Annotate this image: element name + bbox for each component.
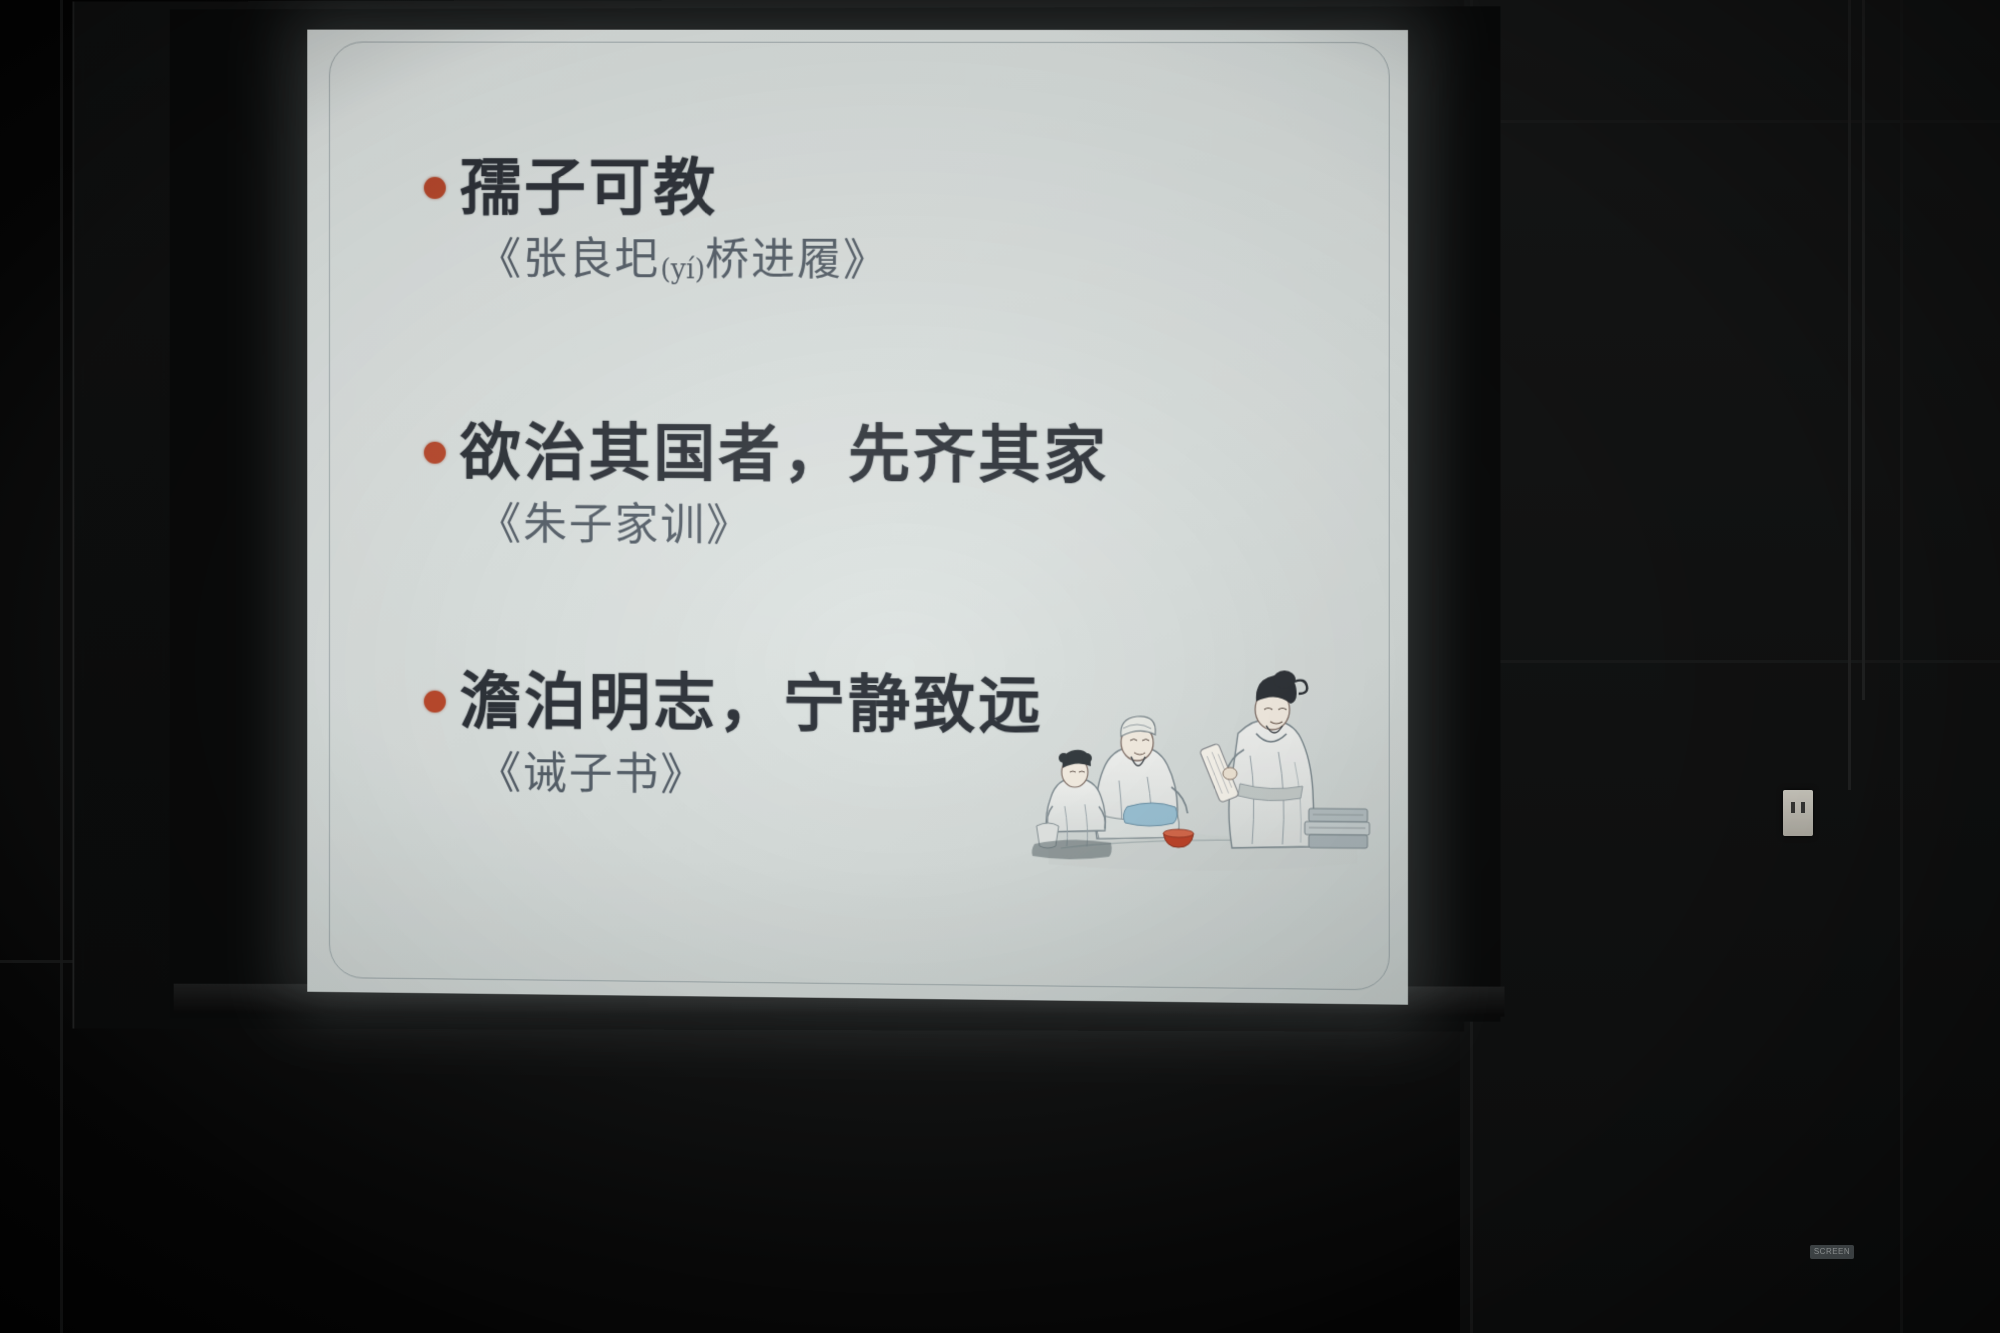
wall-seam-horizontal-2 [1460, 660, 2000, 663]
bullet-row-1: 孺子可教 [307, 155, 1408, 223]
bullet-source-pinyin-1: (yí) [660, 254, 705, 285]
projected-slide[interactable]: 孺子可教 《张良圯(yí)桥进履》 欲治其国者，先齐其家 《朱子家训》 [307, 30, 1408, 1005]
cable-2 [1862, 0, 1865, 700]
wall-seam-vertical-3 [60, 0, 63, 1333]
bullet-source-suffix-1: 桥进履》 [705, 235, 889, 287]
bullet-block-2: 欲治其国者，先齐其家 《朱子家训》 [307, 419, 1408, 555]
wall-outlet-icon [1783, 790, 1813, 836]
bullet-block-1: 孺子可教 《张良圯(yí)桥进履》 [307, 155, 1408, 287]
room-background: 孺子可教 《张良圯(yí)桥进履》 欲治其国者，先齐其家 《朱子家训》 [0, 0, 2000, 1333]
screen-label-plate: SCREEN [1810, 1245, 1854, 1259]
bullet-dot-icon-3 [424, 690, 446, 712]
bullet-source-1: 《张良圯(yí)桥进履》 [477, 236, 1408, 287]
bullet-dot-icon-2 [424, 441, 446, 463]
wall-seam-horizontal-1 [1460, 120, 2000, 123]
wall-panel-right [1460, 0, 2000, 1333]
cable-1 [1848, 0, 1851, 790]
bullet-main-text-3: 澹泊明志，宁静致远 [460, 669, 1044, 739]
bullet-source-prefix-2: 《朱子家训》 [477, 499, 752, 552]
outlet-slot-left [1791, 802, 1795, 813]
bullet-source-prefix-3: 《诫子书》 [477, 748, 706, 801]
outlet-slot-right [1801, 802, 1805, 813]
bullet-dot-icon-1 [424, 176, 446, 198]
bullet-main-text-1: 孺子可教 [460, 155, 719, 220]
wall-seam-vertical-2 [1900, 0, 1903, 1333]
slide-content: 孺子可教 《张良圯(yí)桥进履》 欲治其国者，先齐其家 《朱子家训》 [307, 30, 1408, 1005]
classical-painting-illustration [1031, 629, 1376, 881]
bullet-source-2: 《朱子家训》 [477, 501, 1408, 555]
bullet-row-2: 欲治其国者，先齐其家 [307, 419, 1408, 490]
bullet-main-text-2: 欲治其国者，先齐其家 [460, 420, 1109, 489]
bullet-source-prefix-1: 《张良圯 [477, 234, 660, 285]
projection-screen-frame: 孺子可教 《张良圯(yí)桥进履》 欲治其国者，先齐其家 《朱子家训》 [72, 0, 1464, 1032]
